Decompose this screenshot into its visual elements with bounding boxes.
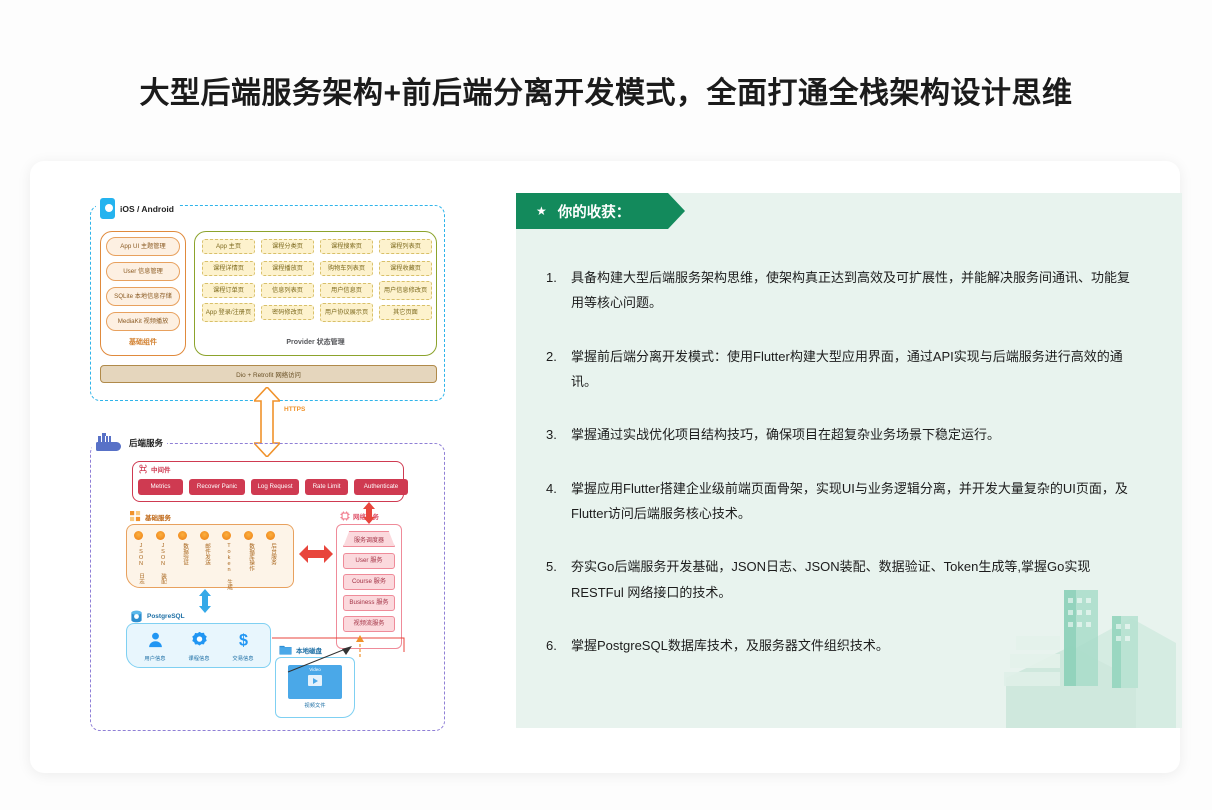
postgres-entity: 用户信息: [138, 631, 172, 662]
service-dispatcher: 服务调度器: [343, 531, 395, 547]
services-db-arrow: [197, 589, 213, 613]
service-dot: [222, 531, 231, 540]
service-dot: [200, 531, 209, 540]
backend-section-label: 后端服务: [92, 434, 167, 451]
provider-page-chip: 课程订单页: [202, 283, 255, 298]
provider-page-chip: 课程收藏页: [379, 261, 432, 276]
user-icon: [147, 631, 164, 648]
main-card: iOS / Android App UI 主题管理 User 信息管理 SQLi…: [30, 161, 1180, 773]
list-item-text: 掌握PostgreSQL数据库技术，及服务器文件组织技术。: [571, 633, 889, 658]
postgres-entity-label: 交易信息: [226, 654, 260, 662]
base-services-title-row: 基础服务: [128, 511, 173, 522]
base-service-label: JSON 日志: [134, 543, 144, 584]
play-button-icon: [308, 675, 322, 686]
https-label: HTTPS: [284, 406, 305, 413]
provider-page-chip: 课程详情页: [202, 261, 255, 276]
middleware-title: 中间件: [151, 464, 171, 474]
gear-icon: [191, 631, 208, 648]
achievements-ribbon: ★ 你的收获：: [516, 193, 668, 229]
base-service-label: Token 生成: [222, 543, 232, 590]
services-link-arrow: [299, 545, 333, 563]
list-item: 4. 掌握应用Flutter搭建企业级前端页面骨架，实现UI与业务逻辑分离，并开…: [546, 476, 1154, 527]
service-dot: [266, 531, 275, 540]
network-access-bar: Dio + Retrofit 网络访问: [100, 365, 437, 383]
middleware-network-arrow: [361, 502, 377, 524]
provider-page-chip: 课程播放页: [261, 261, 314, 276]
service-dot: [178, 531, 187, 540]
network-service-chip: 视频流服务: [343, 616, 395, 632]
provider-page-chip: 用户信息修改页: [379, 281, 432, 300]
list-item: 1. 具备构建大型后端服务架构思维，使架构真正达到高效及可扩展性，并能解决服务间…: [546, 265, 1154, 316]
service-dot: [244, 531, 253, 540]
provider-page-chip: App 登录/注册页: [202, 303, 255, 322]
list-item-number: 5.: [546, 554, 571, 605]
list-item-number: 2.: [546, 344, 571, 395]
base-component-chip: App UI 主题管理: [106, 237, 180, 256]
phone-icon: [100, 198, 115, 219]
dollar-icon: $: [235, 631, 252, 648]
base-service-label: 数据验证: [178, 543, 188, 565]
provider-page-chip: 课程搜索页: [320, 239, 373, 254]
base-service-label: 数据库操作: [244, 543, 254, 571]
middleware-icon: [138, 464, 148, 474]
base-component-chip: User 信息管理: [106, 262, 180, 281]
postgres-entity: $ 交易信息: [226, 631, 260, 662]
postgres-entity-label: 用户信息: [138, 654, 172, 662]
provider-page-chip: 密码修改页: [261, 305, 314, 320]
star-icon: ★: [536, 205, 547, 217]
provider-page-chip: 用户信息页: [320, 283, 373, 298]
list-item: 6. 掌握PostgreSQL数据库技术，及服务器文件组织技术。: [546, 633, 1154, 658]
provider-footer: Provider 状态管理: [194, 337, 437, 347]
provider-page-chip: 购物车列表页: [320, 261, 373, 276]
list-item-text: 掌握应用Flutter搭建企业级前端页面骨架，实现UI与业务逻辑分离，并开发大量…: [571, 476, 1131, 527]
list-item-text: 掌握通过实战优化项目结构技巧，确保项目在超复杂业务场景下稳定运行。: [571, 422, 1000, 447]
list-item-number: 1.: [546, 265, 571, 316]
ribbon-label: 你的收获：: [558, 201, 631, 222]
client-section-label: iOS / Android: [96, 198, 178, 219]
list-item: 3. 掌握通过实战优化项目结构技巧，确保项目在超复杂业务场景下稳定运行。: [546, 422, 1154, 447]
video-file-caption: 视频文件: [275, 701, 355, 709]
middleware-chip: Authenticate: [354, 479, 408, 495]
network-services-feed-line: [268, 632, 408, 654]
postgres-title: PostgreSQL: [147, 613, 185, 620]
middleware-chip: Recover Panic: [189, 479, 245, 495]
base-services-title: 基础服务: [145, 512, 171, 522]
provider-page-chip: 信息列表页: [261, 283, 314, 298]
middleware-title-row: 中间件: [138, 464, 171, 474]
middleware-chip: Rate Limit: [305, 479, 348, 495]
svg-text:$: $: [239, 631, 248, 648]
base-service-label: 邮件发送: [200, 543, 210, 565]
provider-page-chip: 课程分类页: [261, 239, 314, 254]
postgresql-icon: [130, 610, 143, 623]
provider-page-chip: 其它页面: [379, 305, 432, 320]
grid-icon: [130, 511, 141, 522]
achievements-list: 1. 具备构建大型后端服务架构思维，使架构真正达到高效及可扩展性，并能解决服务间…: [546, 265, 1154, 686]
list-item-number: 4.: [546, 476, 571, 527]
postgres-entity-label: 课程信息: [182, 654, 216, 662]
list-item: 2. 掌握前后端分离开发模式：使用Flutter构建大型应用界面，通过API实现…: [546, 344, 1154, 395]
service-dot: [134, 531, 143, 540]
list-item-number: 3.: [546, 422, 571, 447]
postgres-title-row: PostgreSQL: [128, 610, 187, 623]
achievements-panel: ★ 你的收获： 1. 具备构建大型后端服务架构思维，使架构真正达到高效及可扩展性…: [516, 193, 1182, 728]
base-service-label: 后台服务: [266, 543, 276, 565]
page-root: 大型后端服务架构+前后端分离开发模式，全面打通全栈架构设计思维 iOS / An…: [0, 0, 1212, 810]
list-item-text: 具备构建大型后端服务架构思维，使架构真正达到高效及可扩展性，并能解决服务间通讯、…: [571, 265, 1131, 316]
base-service-label: JSON 装配: [156, 543, 166, 584]
network-service-chip: Business 服务: [343, 595, 395, 611]
provider-page-chip: 用户协议展示页: [320, 303, 373, 322]
middleware-chip: Log Request: [251, 479, 299, 495]
list-item-text: 掌握前后端分离开发模式：使用Flutter构建大型应用界面，通过API实现与后端…: [571, 344, 1131, 395]
architecture-diagram: iOS / Android App UI 主题管理 User 信息管理 SQLi…: [90, 191, 470, 746]
service-dot: [156, 531, 165, 540]
list-item: 5. 夯实Go后端服务开发基础，JSON日志、JSON装配、数据验证、Token…: [546, 554, 1154, 605]
page-title: 大型后端服务架构+前后端分离开发模式，全面打通全栈架构设计思维: [0, 68, 1212, 112]
list-item-text: 夯实Go后端服务开发基础，JSON日志、JSON装配、数据验证、Token生成等…: [571, 554, 1131, 605]
video-service-arrow: [352, 635, 368, 657]
list-item-number: 6.: [546, 633, 571, 658]
base-component-chip: MediaKit 视频播放: [106, 312, 180, 331]
postgres-entity: 课程信息: [182, 631, 216, 662]
base-component-chip: SQLite 本地信息存储: [106, 287, 180, 306]
network-service-chip: Course 服务: [343, 574, 395, 590]
provider-page-chip: 课程列表页: [379, 239, 432, 254]
middleware-chip: Metrics: [138, 479, 183, 495]
base-components-footer: 基础组件: [100, 337, 186, 347]
network-service-chip: User 服务: [343, 553, 395, 569]
provider-page-chip: App 主页: [202, 239, 255, 254]
docker-icon: [96, 434, 124, 451]
chip-icon: [340, 511, 350, 521]
